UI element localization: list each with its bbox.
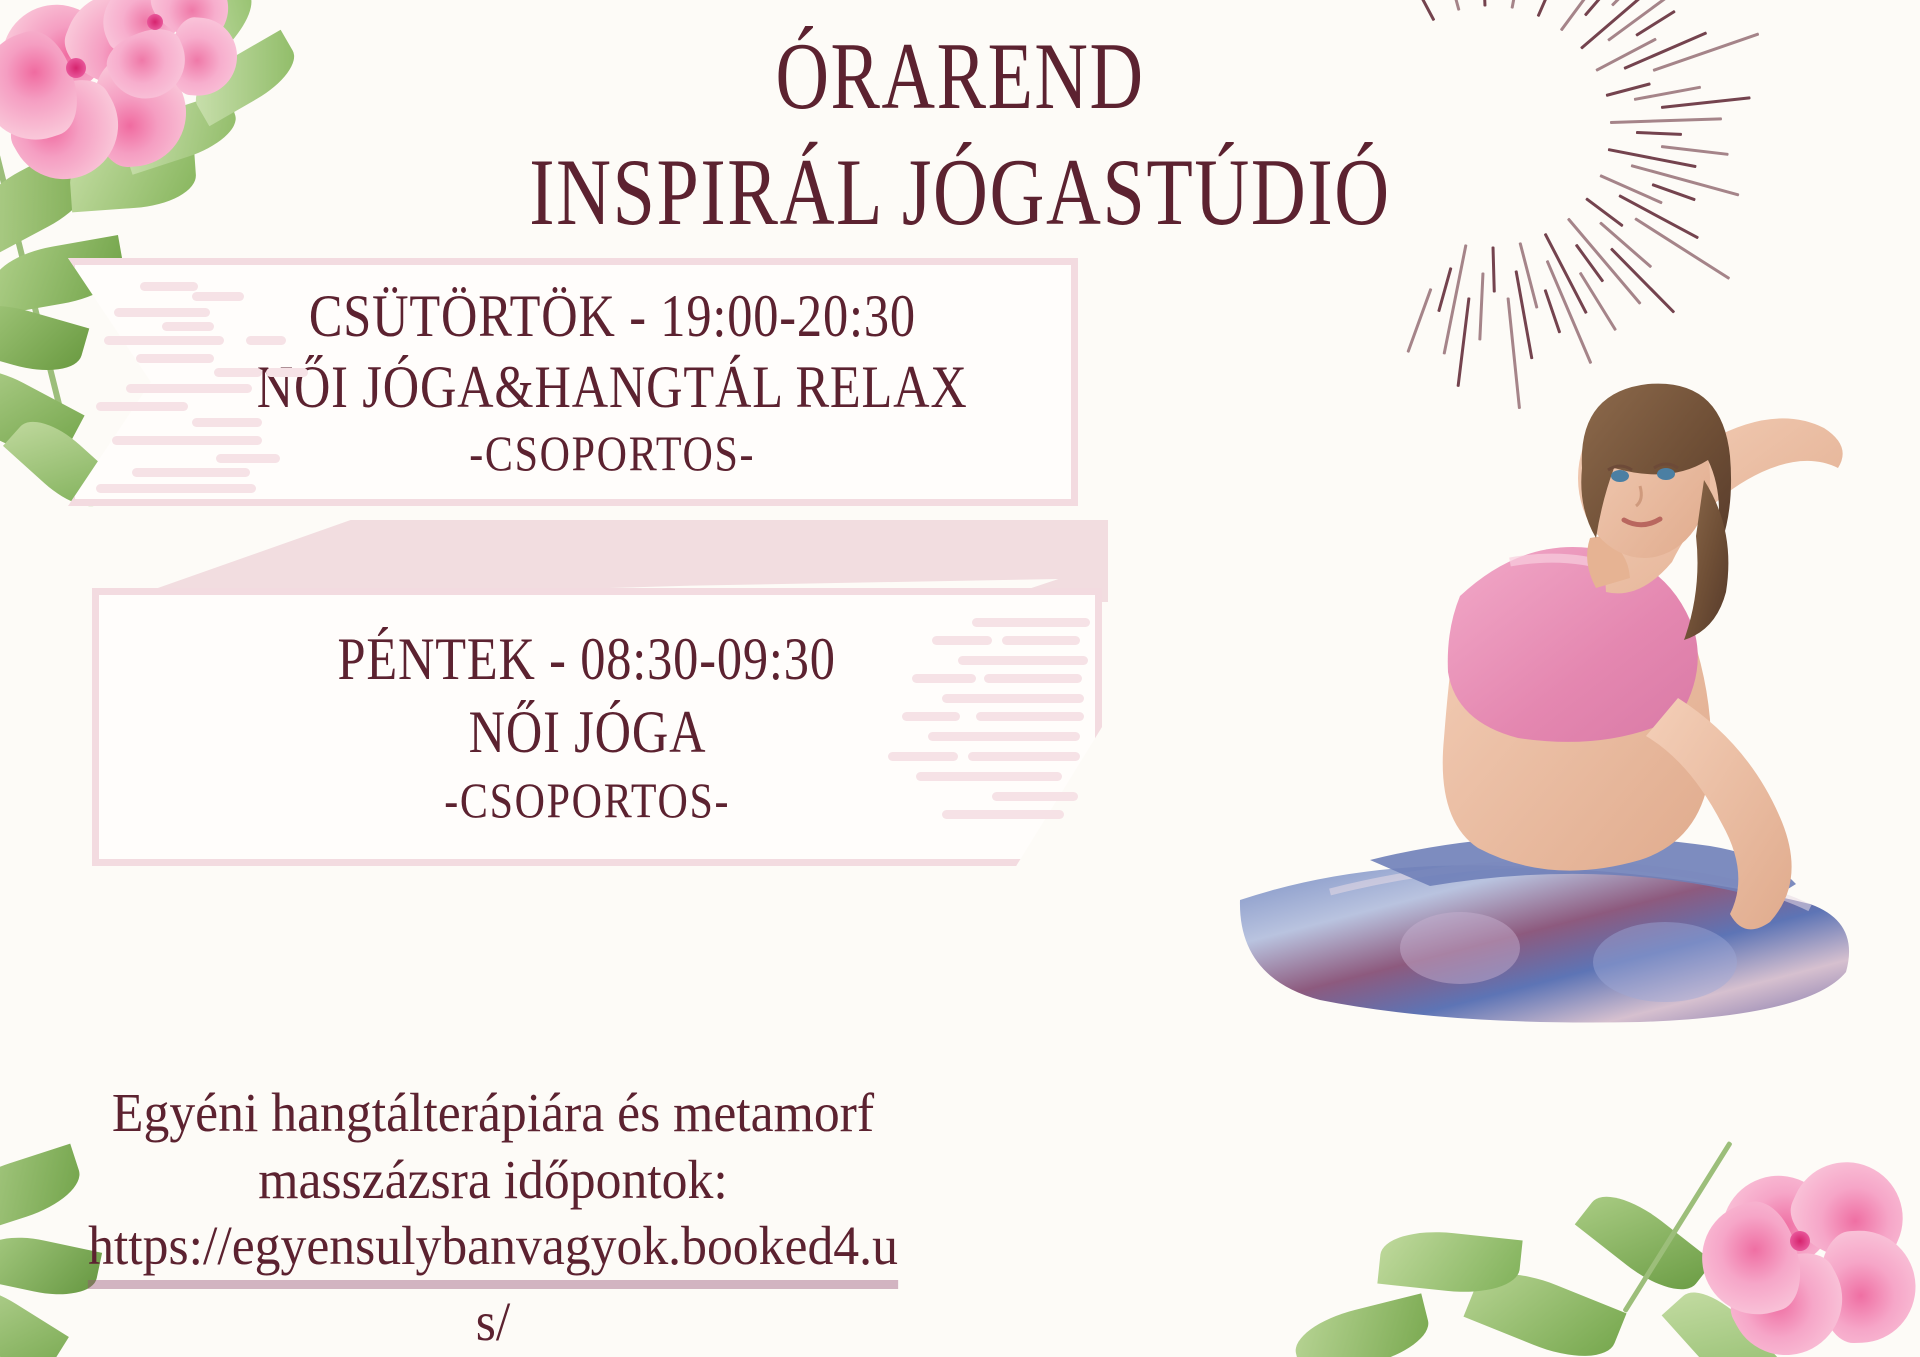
schedule-banner-friday: PÉNTEK - 08:30-09:30 NŐI JÓGA -CSOPORTOS… — [92, 588, 1102, 866]
yoga-woman-photo — [1210, 300, 1920, 1060]
poster-header: ÓRAREND INSPIRÁL JÓGASTÚDIÓ — [0, 28, 1920, 243]
schedule-class-name: NŐI JÓGA — [468, 699, 706, 766]
page-title: ÓRAREND — [211, 28, 1709, 125]
schedule-format: -CSOPORTOS- — [469, 425, 755, 481]
schedule-day-time: CSÜTÖRTÖK - 19:00-20:30 — [308, 283, 915, 350]
poster-canvas: ÓRAREND INSPIRÁL JÓGASTÚDIÓ CSÜTÖRTÖK - … — [0, 0, 1920, 1357]
booking-url-link[interactable]: https://egyensulybanvagyok.booked4.u — [88, 1213, 898, 1289]
booking-url-link-overflow[interactable]: s/ — [75, 1289, 912, 1356]
footer-text-block: Egyéni hangtálterápiára és metamorf mass… — [48, 1080, 938, 1355]
footer-line-2: masszázsra időpontok: — [75, 1147, 912, 1214]
studio-name: INSPIRÁL JÓGASTÚDIÓ — [192, 141, 1728, 244]
schedule-class-name: NŐI JÓGA&HANGTÁL RELAX — [257, 354, 968, 421]
schedule-format: -CSOPORTOS- — [444, 772, 730, 828]
schedule-day-time: PÉNTEK - 08:30-09:30 — [338, 626, 836, 693]
schedule-banner-thursday: CSÜTÖRTÖK - 19:00-20:30 NŐI JÓGA&HANGTÁL… — [68, 258, 1078, 506]
flower-icon — [1708, 1161, 1920, 1357]
footer-line-1: Egyéni hangtálterápiára és metamorf — [75, 1080, 912, 1147]
